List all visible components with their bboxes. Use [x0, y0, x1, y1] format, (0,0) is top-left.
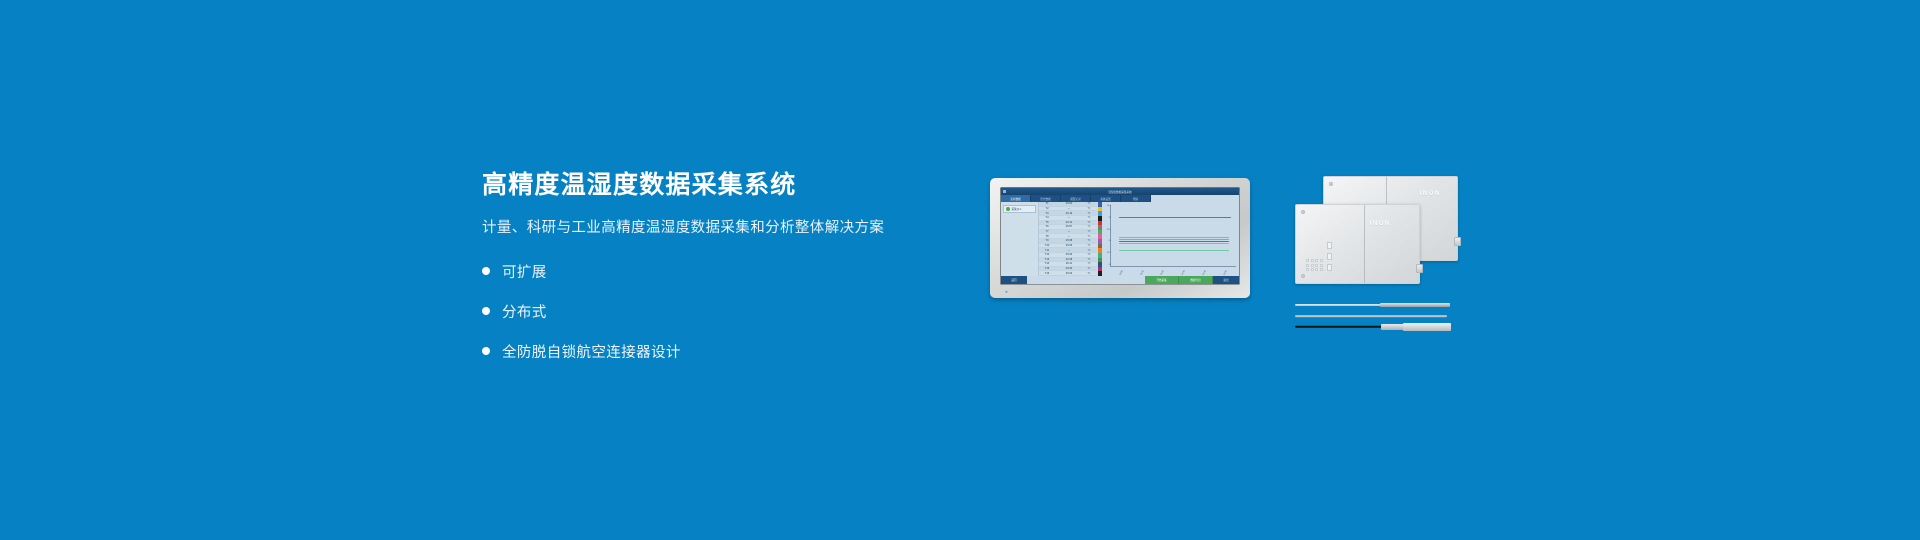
chart-series-line	[1119, 243, 1229, 244]
connector-port-icon	[1327, 253, 1332, 260]
cell-channel: T1	[1039, 202, 1055, 205]
chart-series-line	[1119, 217, 1232, 218]
cable-probe-body	[1403, 323, 1451, 331]
cell-unit: ℃	[1083, 272, 1095, 275]
feature-label: 分布式	[502, 301, 547, 322]
cell-value: 25.94	[1055, 272, 1083, 275]
banner-text-block: 高精度温湿度数据采集系统 计量、科研与工业高精度温湿度数据采集和分析整体解决方案…	[482, 172, 962, 381]
app-body: 采集仪-1 T125.81℃T2---℃T326.19℃T4---℃T526.1…	[1001, 202, 1239, 276]
y-tick-label: 25.5	[1105, 229, 1111, 231]
list-item: 分布式	[482, 301, 962, 322]
device-tree-panel: 采集仪-1	[1001, 202, 1039, 276]
y-tick-label: 26	[1105, 217, 1111, 219]
exit-button[interactable]: 退出	[1213, 276, 1239, 284]
cable-probe-lead	[1295, 326, 1387, 328]
acquisition-module-front: INON	[1295, 204, 1420, 284]
series-color-legend	[1098, 202, 1102, 276]
chart-series-line	[1119, 239, 1229, 240]
app-titlebar: 温湿度数据采集系统	[1001, 188, 1239, 195]
cell-unit: ℃	[1083, 267, 1095, 270]
cell-unit: ℃	[1083, 244, 1095, 247]
y-tick-label: 26.5	[1105, 205, 1111, 207]
cell-channel: T16	[1039, 272, 1055, 275]
trend-chart-panel: 26.52625.52524.524 10:0010:1010:2010:301…	[1103, 202, 1239, 276]
tab-realtime[interactable]: 实时数据	[1001, 195, 1031, 202]
tab-bar-filler	[1151, 195, 1239, 202]
module-screw-icon	[1301, 274, 1305, 278]
cell-unit: ℃	[1083, 262, 1095, 265]
tab-settings[interactable]: 系统设置	[1091, 195, 1121, 202]
cell-value: 25.81	[1055, 202, 1083, 205]
cell-channel: T2	[1039, 207, 1055, 210]
cell-value: ---	[1055, 235, 1083, 238]
export-data-button[interactable]: 数据导出	[1179, 276, 1213, 284]
module-screw-icon	[1301, 210, 1305, 214]
cell-unit: ℃	[1083, 258, 1095, 261]
cell-value: 26.12	[1055, 221, 1083, 224]
monitor-device: 温湿度数据采集系统 实时数据 历史数据 报警记录 系统设置 帮助 采集仪-1	[990, 178, 1250, 298]
channel-table[interactable]: T125.81℃T2---℃T326.19℃T4---℃T526.12℃T625…	[1039, 202, 1097, 276]
cell-value: 25.98	[1055, 239, 1083, 242]
cell-channel: T6	[1039, 225, 1055, 228]
module-screw-icon	[1329, 182, 1333, 186]
list-item: 全防脱自锁航空连接器设计	[482, 341, 962, 362]
y-tick-label: 24.5	[1105, 252, 1111, 254]
cell-channel: T8	[1039, 235, 1055, 238]
connector-grid-icon	[1306, 259, 1323, 271]
app-title: 温湿度数据采集系统	[1108, 190, 1131, 194]
module-seam	[1364, 205, 1365, 283]
feature-label: 全防脱自锁航空连接器设计	[502, 341, 681, 362]
tab-history[interactable]: 历史数据	[1031, 195, 1061, 202]
cell-channel: T5	[1039, 221, 1055, 224]
cell-value: ---	[1055, 207, 1083, 210]
y-tick-label: 24	[1105, 264, 1111, 266]
feature-list: 可扩展 分布式 全防脱自锁航空连接器设计	[482, 261, 962, 362]
monitor-bezel: 温湿度数据采集系统 实时数据 历史数据 报警记录 系统设置 帮助 采集仪-1	[990, 178, 1250, 298]
sensor-probe-group	[1295, 301, 1460, 334]
cell-value: 25.96	[1055, 244, 1083, 247]
module-brand-label: INON	[1420, 191, 1441, 197]
cell-unit: ℃	[1083, 221, 1095, 224]
cell-value: ---	[1055, 249, 1083, 252]
app-footer: 返回 开始采集 数据导出 退出	[1001, 276, 1239, 284]
module-connector-jack	[1454, 237, 1461, 246]
cell-unit: ℃	[1083, 249, 1095, 252]
x-tick-label: 10:10	[1140, 270, 1144, 276]
monitor-chin: ◄	[990, 285, 1250, 298]
x-tick-label: 10:00	[1119, 270, 1123, 276]
module-connector-jack	[1416, 264, 1423, 273]
cell-channel: T4	[1039, 216, 1055, 219]
device-tree-item[interactable]: 采集仪-1	[1003, 205, 1036, 213]
chart-series-line	[1119, 241, 1229, 242]
cell-value: 26.28	[1055, 258, 1083, 261]
bullet-dot-icon	[482, 267, 490, 275]
chart-series-line	[1119, 237, 1229, 238]
cell-value: 25.90	[1055, 253, 1083, 256]
chart-series-line	[1119, 250, 1229, 251]
cable-probe-ferrule	[1381, 324, 1405, 330]
tab-alarms[interactable]: 报警记录	[1061, 195, 1091, 202]
chart-plot-area: 26.52625.52524.524 10:0010:1010:2010:301…	[1110, 205, 1236, 267]
cell-channel: T15	[1039, 267, 1055, 270]
cell-value: 26.11	[1055, 262, 1083, 265]
cell-unit: ℃	[1083, 207, 1095, 210]
x-tick-label: 10:50	[1223, 270, 1227, 276]
cell-value: ---	[1055, 216, 1083, 219]
cell-channel: T9	[1039, 239, 1055, 242]
connector-port-icon	[1327, 264, 1332, 271]
back-button[interactable]: 返回	[1001, 276, 1027, 284]
x-tick-label: 10:20	[1161, 270, 1165, 276]
cell-channel: T12	[1039, 253, 1055, 256]
chart-y-axis: 26.52625.52524.524	[1105, 205, 1111, 266]
bullet-dot-icon	[482, 347, 490, 355]
module-brand-label: INON	[1370, 221, 1391, 227]
app-icon	[1003, 190, 1006, 193]
thin-probe-shaft	[1295, 315, 1447, 317]
footer-spacer	[1027, 276, 1145, 284]
cell-value: 25.87	[1055, 225, 1083, 228]
module-connector-array	[1306, 242, 1332, 271]
start-acquisition-button[interactable]: 开始采集	[1145, 276, 1179, 284]
connector-port-icon	[1327, 242, 1332, 249]
x-tick-label: 10:30	[1182, 270, 1186, 276]
list-item	[1295, 312, 1460, 320]
cell-unit: ℃	[1083, 239, 1095, 242]
connector-port-stack	[1327, 242, 1332, 271]
cell-unit: ℃	[1083, 225, 1095, 228]
monitor-brand-mark: ◄	[1004, 289, 1008, 294]
bullet-dot-icon	[482, 307, 490, 315]
cell-channel: T7	[1039, 230, 1055, 233]
cell-unit: ℃	[1083, 253, 1095, 256]
device-label: 采集仪-1	[1012, 207, 1022, 211]
tab-bar: 实时数据 历史数据 报警记录 系统设置 帮助	[1001, 195, 1239, 202]
cell-value: 26.19	[1055, 212, 1083, 215]
page-title: 高精度温湿度数据采集系统	[482, 172, 962, 200]
cell-unit: ℃	[1083, 235, 1095, 238]
hardware-group: INON INON	[1295, 176, 1460, 306]
stainless-probe-tip	[1380, 303, 1450, 307]
monitor-screen-frame: 温湿度数据采集系统 实时数据 历史数据 报警记录 系统设置 帮助 采集仪-1	[1000, 187, 1240, 285]
cell-channel: T10	[1039, 244, 1055, 247]
status-dot-icon	[1006, 207, 1010, 211]
list-item: 可扩展	[482, 261, 962, 282]
cell-value: ---	[1055, 230, 1083, 233]
cell-unit: ℃	[1083, 230, 1095, 233]
cell-channel: T11	[1039, 249, 1055, 252]
cell-unit: ℃	[1083, 202, 1095, 205]
cell-value: 25.90	[1055, 267, 1083, 270]
page-subtitle: 计量、科研与工业高精度温湿度数据采集和分析整体解决方案	[482, 220, 962, 237]
feature-label: 可扩展	[502, 261, 547, 282]
cell-channel: T3	[1039, 212, 1055, 215]
chart-x-axis: 10:0010:1010:2010:3010:4010:50	[1111, 272, 1236, 274]
list-item	[1295, 323, 1460, 331]
cell-unit: ℃	[1083, 216, 1095, 219]
list-item	[1295, 301, 1460, 309]
cell-unit: ℃	[1083, 212, 1095, 215]
cell-channel: T13	[1039, 258, 1055, 261]
stainless-probe-shaft	[1295, 304, 1383, 306]
y-tick-label: 25	[1105, 240, 1111, 242]
cell-channel: T14	[1039, 262, 1055, 265]
tab-help[interactable]: 帮助	[1121, 195, 1151, 202]
x-tick-label: 10:40	[1203, 270, 1207, 276]
software-screen: 温湿度数据采集系统 实时数据 历史数据 报警记录 系统设置 帮助 采集仪-1	[1001, 188, 1239, 284]
